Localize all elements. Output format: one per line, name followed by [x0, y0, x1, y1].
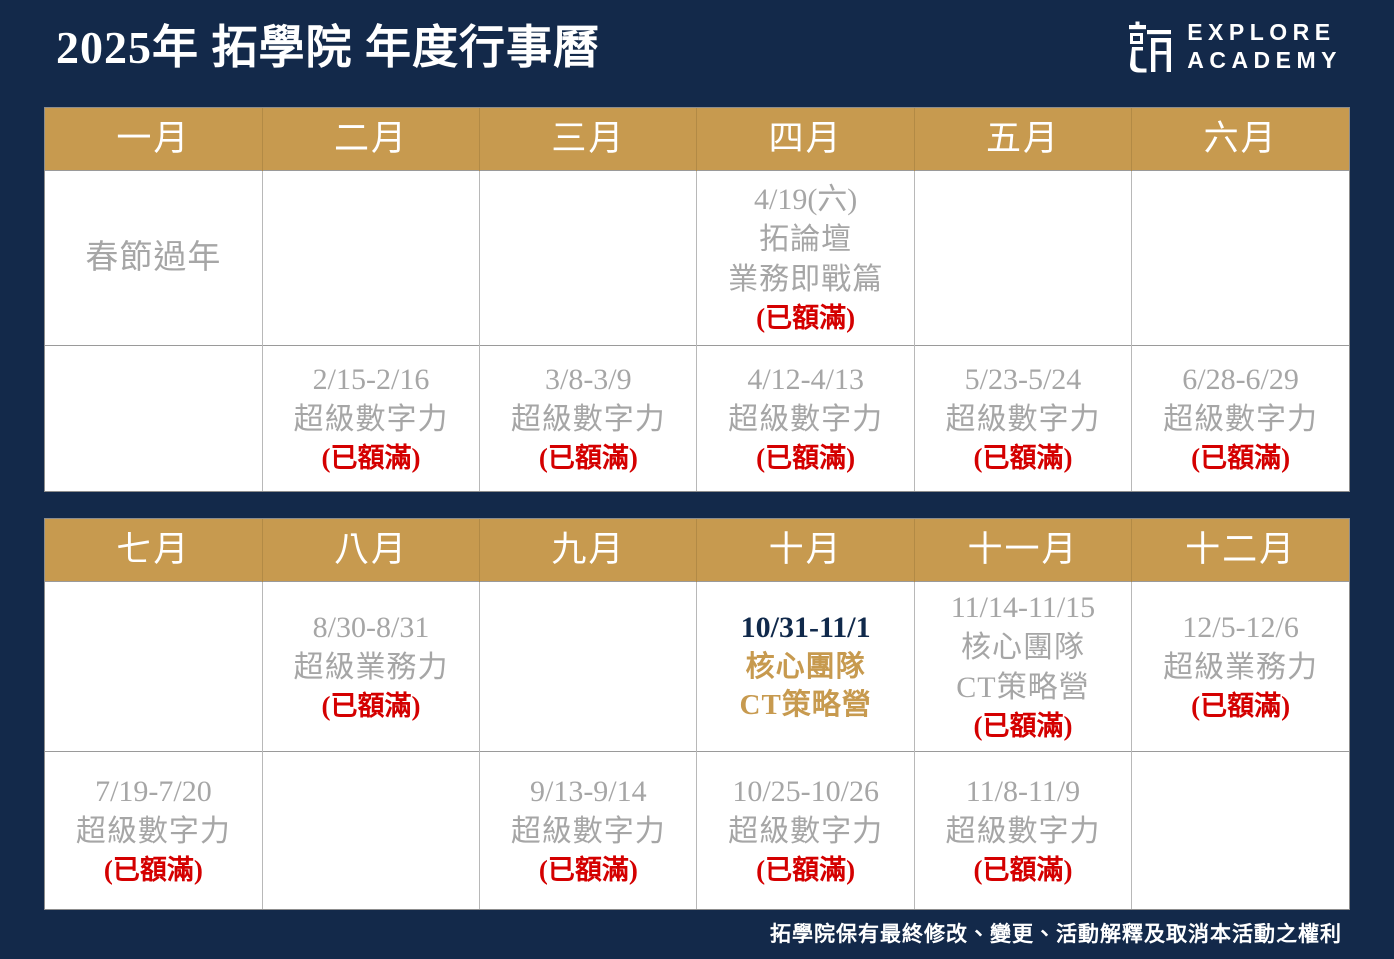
month-header-cell: 六月: [1132, 108, 1349, 170]
event: 12/5-12/6 超級業務力 (已額滿): [1136, 608, 1345, 724]
event-cell[interactable]: [262, 751, 479, 909]
event-highlighted: 10/31-11/1 核心團隊 CT策略營: [701, 608, 909, 724]
event-name: 超級數字力: [1163, 400, 1318, 440]
event: 4/12-4/13 超級數字力 (已額滿): [701, 360, 909, 476]
brand-text: EXPLORE ACADEMY: [1187, 20, 1342, 73]
event-name: 超級數字力: [293, 400, 448, 440]
status-badge: (已額滿): [756, 852, 855, 888]
event: 11/14-11/15 核心團隊 CT策略營 (已額滿): [919, 588, 1127, 744]
event-name: 超級數字力: [945, 812, 1100, 852]
month-header-row: 七月 八月 九月 十月 十一月 十二月: [45, 519, 1349, 581]
calendar-table: 七月 八月 九月 十月 十一月 十二月 8/30-8/31 超級業務力 (已額滿…: [45, 519, 1349, 909]
event: 4/19(六) 拓論壇 業務即戰篇 (已額滿): [701, 180, 909, 336]
status-badge: (已額滿): [322, 440, 421, 476]
month-header-cell: 四月: [697, 108, 914, 170]
event-name: 核心團隊: [746, 648, 866, 686]
event-date: 8/30-8/31: [313, 608, 430, 648]
event-date: 4/12-4/13: [747, 360, 864, 400]
event-name: 春節過年: [85, 237, 221, 279]
calendar-row: 7/19-7/20 超級數字力 (已額滿) 9/13-9/14 超級數字力 (已…: [45, 751, 1349, 909]
event-date: 2/15-2/16: [313, 360, 430, 400]
event-subtitle: CT策略營: [956, 668, 1089, 708]
month-header-cell: 八月: [262, 519, 479, 581]
event-cell[interactable]: 9/13-9/14 超級數字力 (已額滿): [480, 751, 697, 909]
event-cell[interactable]: 10/31-11/1 核心團隊 CT策略營: [697, 581, 914, 751]
event-name: 超級業務力: [1163, 648, 1318, 688]
month-header-cell: 二月: [262, 108, 479, 170]
event-cell[interactable]: [45, 581, 262, 751]
status-badge: (已額滿): [973, 852, 1072, 888]
event-date: 12/5-12/6: [1182, 608, 1299, 648]
event-cell[interactable]: 3/8-3/9 超級數字力 (已額滿): [480, 345, 697, 491]
status-badge: (已額滿): [973, 440, 1072, 476]
event-cell[interactable]: 6/28-6/29 超級數字力 (已額滿): [1132, 345, 1349, 491]
event-name: 超級業務力: [293, 648, 448, 688]
status-badge: (已額滿): [756, 300, 855, 336]
month-header-cell: 七月: [45, 519, 262, 581]
brand-line-academy: ACADEMY: [1187, 48, 1342, 73]
calendar-second-half: 七月 八月 九月 十月 十一月 十二月 8/30-8/31 超級業務力 (已額滿…: [44, 518, 1350, 910]
month-header-cell: 十月: [697, 519, 914, 581]
event-cell[interactable]: 2/15-2/16 超級數字力 (已額滿): [262, 345, 479, 491]
status-badge: (已額滿): [322, 688, 421, 724]
event-date: 10/31-11/1: [741, 608, 871, 648]
status-badge: (已額滿): [973, 708, 1072, 744]
event-date: 7/19-7/20: [95, 772, 212, 812]
event-cell[interactable]: [1132, 170, 1349, 345]
event: 10/25-10/26 超級數字力 (已額滿): [701, 772, 909, 888]
status-badge: (已額滿): [1191, 688, 1290, 724]
event-cell[interactable]: 4/19(六) 拓論壇 業務即戰篇 (已額滿): [697, 170, 914, 345]
event: 7/19-7/20 超級數字力 (已額滿): [49, 772, 258, 888]
event-date: 11/8-11/9: [966, 772, 1080, 812]
status-badge: (已額滿): [104, 852, 203, 888]
event-cell[interactable]: 5/23-5/24 超級數字力 (已額滿): [914, 345, 1131, 491]
event-cell[interactable]: [480, 170, 697, 345]
event-cell[interactable]: 8/30-8/31 超級業務力 (已額滿): [262, 581, 479, 751]
page-header: 2025年 拓學院 年度行事曆 EXPLORE ACADEMY: [0, 0, 1394, 100]
calendar-table: 一月 二月 三月 四月 五月 六月 春節過年 4/19(六): [45, 108, 1349, 491]
event-name: 超級數字力: [728, 400, 883, 440]
event: 9/13-9/14 超級數字力 (已額滿): [484, 772, 692, 888]
event-cell[interactable]: [480, 581, 697, 751]
calendar-row: 8/30-8/31 超級業務力 (已額滿) 10/31-11/1 核心團隊 CT…: [45, 581, 1349, 751]
event-cell[interactable]: [914, 170, 1131, 345]
event-cell[interactable]: [45, 345, 262, 491]
event-name: 拓論壇: [759, 220, 852, 260]
event: 6/28-6/29 超級數字力 (已額滿): [1136, 360, 1345, 476]
footer-disclaimer: 拓學院保有最終修改、變更、活動解釋及取消本活動之權利: [770, 920, 1342, 948]
tuo-logo-icon: [1127, 21, 1173, 73]
status-badge: (已額滿): [539, 440, 638, 476]
event-date: 3/8-3/9: [545, 360, 632, 400]
event-cell[interactable]: 春節過年: [45, 170, 262, 345]
event-cell[interactable]: 7/19-7/20 超級數字力 (已額滿): [45, 751, 262, 909]
month-header-cell: 三月: [480, 108, 697, 170]
event-date: 4/19(六): [754, 180, 857, 220]
calendar-row: 2/15-2/16 超級數字力 (已額滿) 3/8-3/9 超級數字力 (已額滿…: [45, 345, 1349, 491]
month-header-row: 一月 二月 三月 四月 五月 六月: [45, 108, 1349, 170]
event-cell[interactable]: [1132, 751, 1349, 909]
event-date: 11/14-11/15: [951, 588, 1095, 628]
calendar-first-half: 一月 二月 三月 四月 五月 六月 春節過年 4/19(六): [44, 107, 1350, 492]
event-date: 9/13-9/14: [530, 772, 647, 812]
event-date: 10/25-10/26: [732, 772, 879, 812]
event-cell[interactable]: 10/25-10/26 超級數字力 (已額滿): [697, 751, 914, 909]
event: 2/15-2/16 超級數字力 (已額滿): [267, 360, 475, 476]
status-badge: (已額滿): [539, 852, 638, 888]
calendar-row: 春節過年 4/19(六) 拓論壇 業務即戰篇 (已額滿): [45, 170, 1349, 345]
month-header-cell: 九月: [480, 519, 697, 581]
event-name: 超級數字力: [511, 400, 666, 440]
brand-logo: EXPLORE ACADEMY: [1127, 20, 1342, 73]
event-date: 6/28-6/29: [1182, 360, 1299, 400]
event-subtitle: CT策略營: [740, 686, 872, 724]
event-cell[interactable]: 11/8-11/9 超級數字力 (已額滿): [914, 751, 1131, 909]
event-name: 核心團隊: [961, 628, 1085, 668]
status-badge: (已額滿): [1191, 440, 1290, 476]
status-badge: (已額滿): [756, 440, 855, 476]
month-header-cell: 五月: [914, 108, 1131, 170]
event-cell[interactable]: 11/14-11/15 核心團隊 CT策略營 (已額滿): [914, 581, 1131, 751]
event: 11/8-11/9 超級數字力 (已額滿): [919, 772, 1127, 888]
event: 5/23-5/24 超級數字力 (已額滿): [919, 360, 1127, 476]
month-header-cell: 一月: [45, 108, 262, 170]
event-name: 超級數字力: [945, 400, 1100, 440]
brand-line-explore: EXPLORE: [1187, 20, 1342, 45]
month-header-cell: 十二月: [1132, 519, 1349, 581]
event-name: 超級數字力: [728, 812, 883, 852]
event: 8/30-8/31 超級業務力 (已額滿): [267, 608, 475, 724]
event-date: 5/23-5/24: [965, 360, 1082, 400]
event-name: 超級數字力: [511, 812, 666, 852]
event-name: 超級數字力: [76, 812, 231, 852]
event: 春節過年: [49, 237, 258, 279]
event-cell[interactable]: [262, 170, 479, 345]
page-title: 2025年 拓學院 年度行事曆: [56, 18, 600, 78]
event: 3/8-3/9 超級數字力 (已額滿): [484, 360, 692, 476]
month-header-cell: 十一月: [914, 519, 1131, 581]
event-cell[interactable]: 12/5-12/6 超級業務力 (已額滿): [1132, 581, 1349, 751]
event-cell[interactable]: 4/12-4/13 超級數字力 (已額滿): [697, 345, 914, 491]
event-subtitle: 業務即戰篇: [728, 260, 883, 300]
